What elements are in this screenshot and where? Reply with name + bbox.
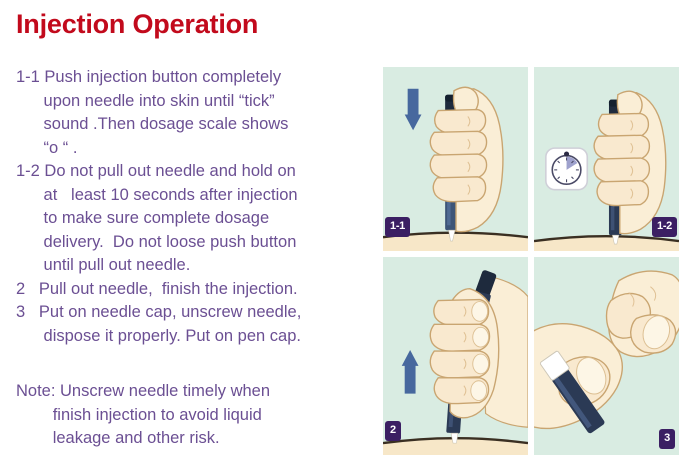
note-text: Note: Unscrew needle timely when finish …	[16, 380, 372, 451]
steps-list: 1-1 Push injection button completely upo…	[16, 66, 372, 348]
injection-operation-page: Injection Operation 1-1 Push injection b…	[0, 0, 680, 463]
panel-3-illustration	[534, 257, 679, 455]
panel-badge: 1-1	[385, 217, 410, 237]
step-item: 1-1 Push injection button completely upo…	[16, 66, 372, 160]
panel-2-illustration	[383, 257, 528, 455]
panel-badge: 3	[659, 429, 675, 449]
step-item: 2 Pull out needle, finish the injection.	[16, 278, 372, 302]
page-title: Injection Operation	[16, 9, 258, 40]
panel-badge: 2	[385, 421, 401, 441]
panel-3: 3	[533, 256, 680, 456]
panel-2: 2	[382, 256, 529, 456]
illustration-panel-grid: 1-1	[382, 66, 680, 463]
step-item: 1-2 Do not pull out needle and hold on a…	[16, 160, 372, 278]
panel-badge: 1-2	[652, 217, 677, 237]
panel-1-2: 1-2	[533, 66, 680, 252]
stopwatch-icon	[546, 148, 587, 190]
step-item: 3 Put on needle cap, unscrew needle, dis…	[16, 301, 372, 348]
panel-1-1: 1-1	[382, 66, 529, 252]
instruction-text-column: Injection Operation 1-1 Push injection b…	[0, 0, 378, 463]
